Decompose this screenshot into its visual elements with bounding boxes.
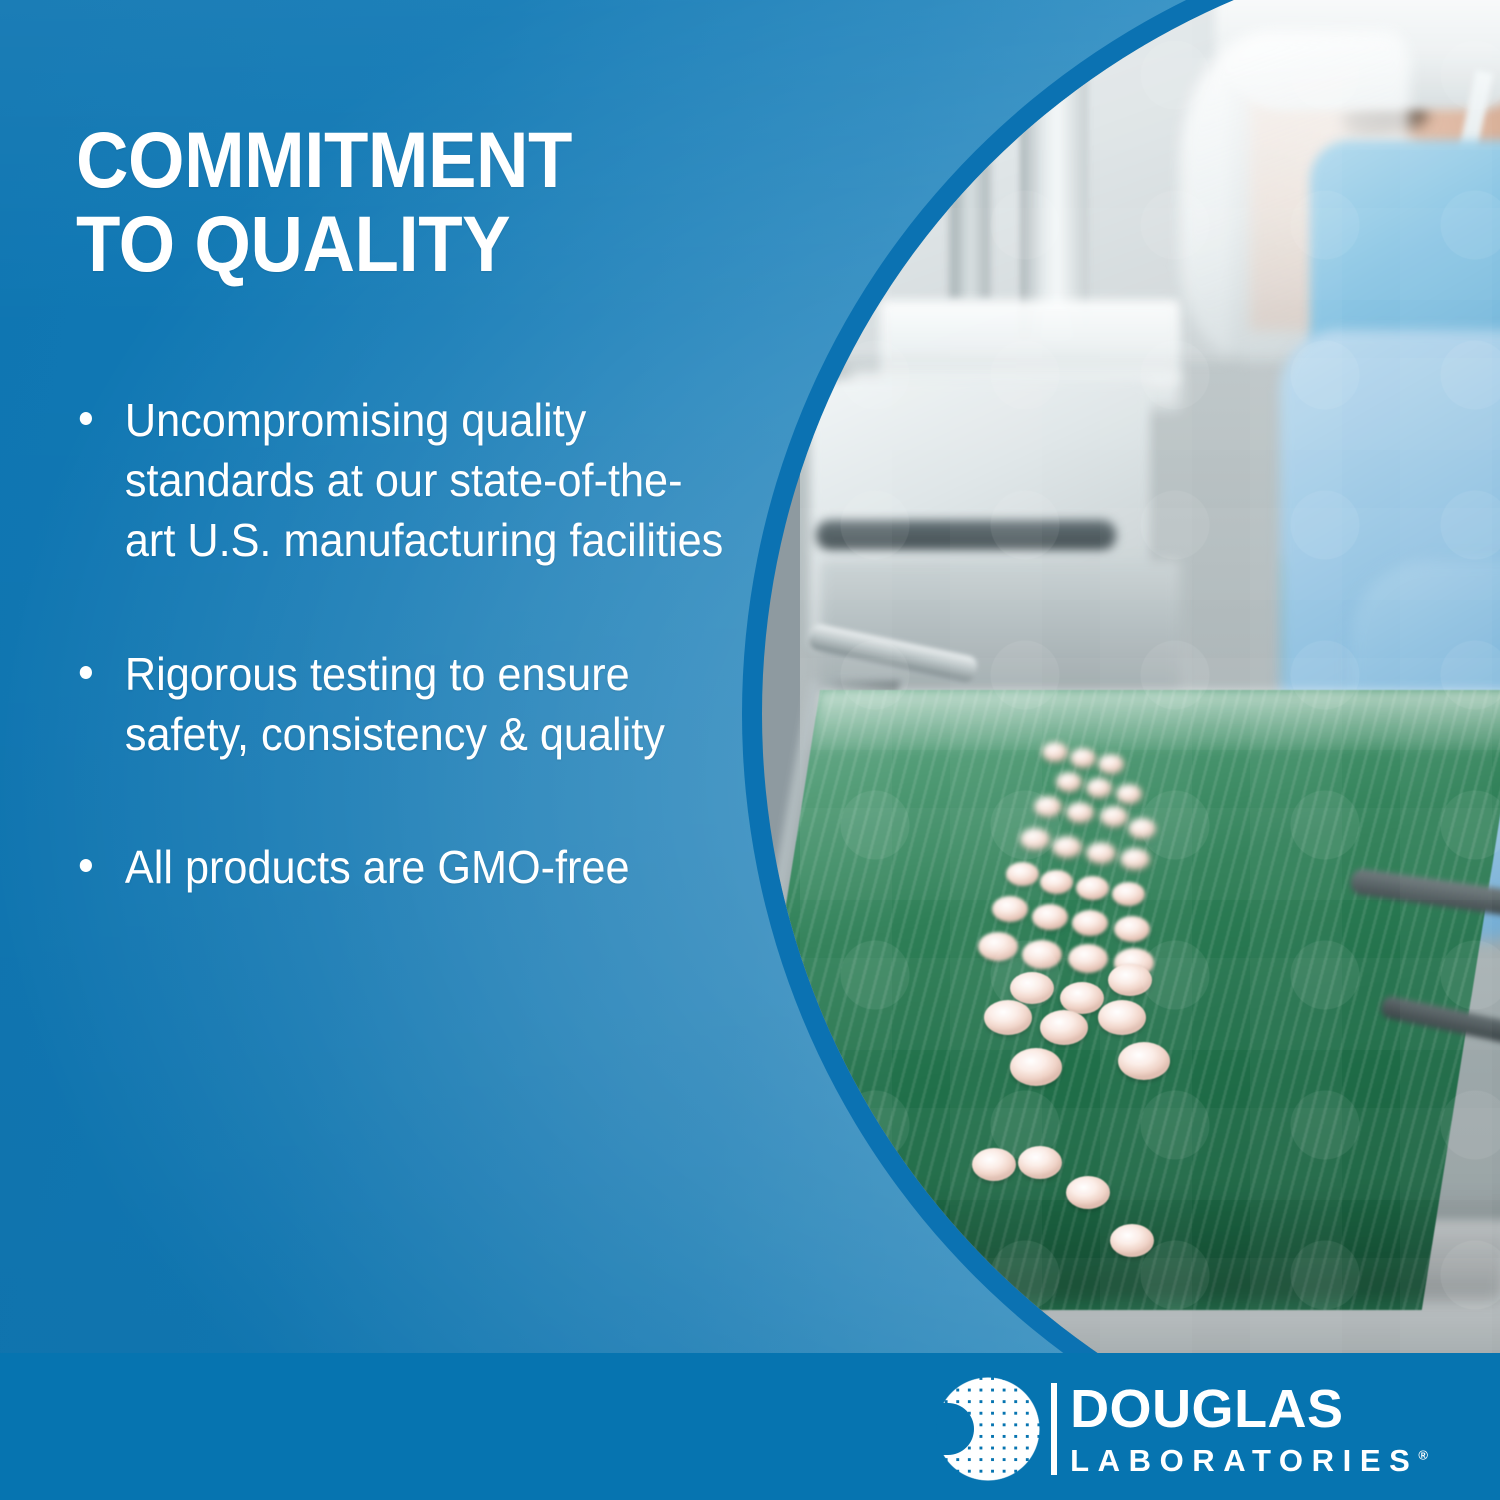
tablet <box>1018 1146 1062 1179</box>
logo-word-primary: DOUGLAS <box>1070 1382 1428 1436</box>
tablet <box>1076 876 1109 900</box>
tablet <box>972 1148 1016 1181</box>
tablet <box>1118 1042 1170 1080</box>
tablet <box>1116 784 1142 804</box>
logo-divider <box>1051 1383 1057 1475</box>
logo-wordmark: DOUGLAS LABORATORIES® <box>1070 1382 1428 1476</box>
marketing-banner: COMMITMENTTO QUALITY Uncompromising qual… <box>0 0 1500 1500</box>
tablet <box>1114 916 1150 942</box>
tablet <box>1020 828 1050 850</box>
tablet <box>1034 796 1062 817</box>
page-title: COMMITMENTTO QUALITY <box>76 118 711 285</box>
list-item-label: All products are GMO-free <box>125 841 630 893</box>
tablet <box>1120 848 1150 870</box>
tablet <box>1010 1048 1062 1086</box>
tablet <box>984 1000 1032 1035</box>
tablet <box>1108 964 1152 996</box>
tablet <box>1040 1010 1088 1045</box>
photo-belt-highlight <box>810 690 1500 750</box>
bullet-dot-icon <box>80 859 92 872</box>
registered-trademark-icon: ® <box>1418 1448 1428 1463</box>
tablet <box>1040 870 1073 894</box>
tablet <box>1070 748 1096 768</box>
list-item: All products are GMO-free <box>76 838 725 898</box>
tablet <box>1098 754 1124 774</box>
douglas-disc-grid <box>936 1377 1040 1481</box>
logo-word-secondary-text: LABORATORIES <box>1070 1443 1418 1478</box>
photo-disc-ring <box>742 0 1500 1500</box>
footer-bar: DOUGLAS LABORATORIES® <box>0 1353 1500 1500</box>
headline-line-1: COMMITMENT <box>76 115 572 204</box>
tablet <box>1066 1176 1110 1209</box>
list-item: Uncompromising quality standards at our … <box>76 391 725 570</box>
benefits-list: Uncompromising quality standards at our … <box>76 391 766 898</box>
tablet <box>1086 778 1112 798</box>
brand-logo: DOUGLAS LABORATORIES® <box>936 1377 1428 1481</box>
list-item-label: Uncompromising quality standards at our … <box>125 394 723 566</box>
tablet <box>1032 904 1068 930</box>
manufacturing-photo <box>762 0 1500 1490</box>
bullet-dot-icon <box>80 412 92 425</box>
tablet <box>992 896 1028 922</box>
tablet <box>1068 944 1108 973</box>
logo-word-secondary: LABORATORIES® <box>1070 1445 1428 1476</box>
tablet <box>1042 742 1068 762</box>
photo-disc <box>762 0 1500 1490</box>
tablet <box>1022 940 1062 969</box>
photo-column-secondary <box>950 0 990 300</box>
photo-column <box>1020 0 1088 340</box>
tablet <box>1010 972 1054 1004</box>
copy-block: COMMITMENTTO QUALITY Uncompromising qual… <box>76 118 766 898</box>
tablet <box>1086 842 1116 864</box>
tablet <box>1066 802 1094 823</box>
tablet <box>1006 862 1039 886</box>
list-item-label: Rigorous testing to ensure safety, consi… <box>125 648 665 760</box>
tablet <box>1100 806 1128 827</box>
tablet <box>1098 1000 1146 1035</box>
tablet <box>978 932 1018 961</box>
headline-line-2: TO QUALITY <box>76 199 510 288</box>
tablet <box>1056 772 1082 792</box>
tablet <box>1128 818 1156 839</box>
douglas-disc-icon <box>936 1377 1040 1481</box>
photo-machine-shadow-bar <box>816 520 1116 550</box>
tablet <box>1072 910 1108 936</box>
tablet <box>1052 836 1082 858</box>
tablet <box>1112 882 1145 906</box>
list-item: Rigorous testing to ensure safety, consi… <box>76 645 725 765</box>
bullet-dot-icon <box>80 666 92 679</box>
tablet <box>1110 1224 1154 1257</box>
